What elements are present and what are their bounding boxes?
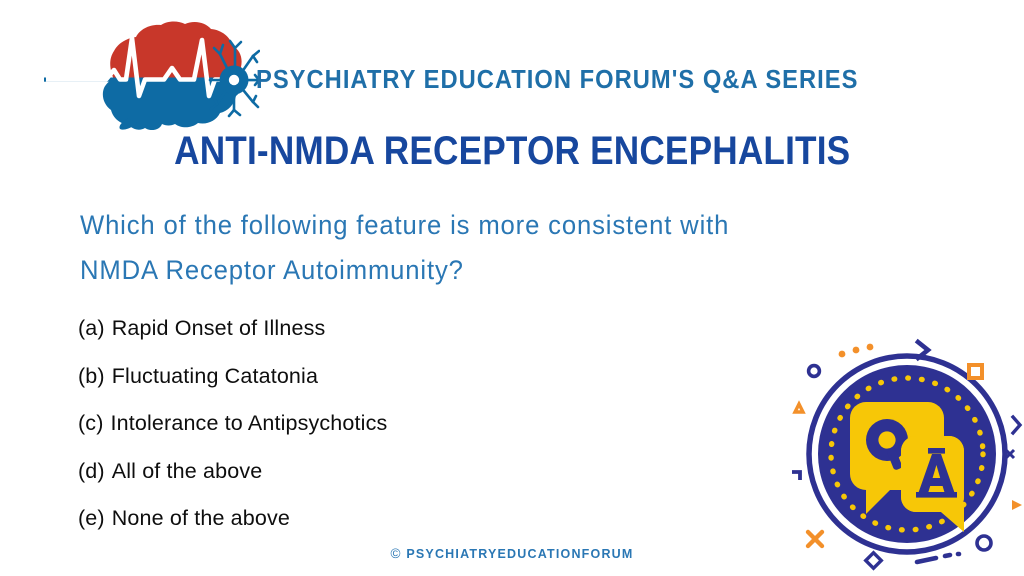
orange-square-outline-icon: [969, 365, 982, 378]
slide-header: PSYCHIATRY EDUCATION FORUM'S Q&A SERIES: [0, 8, 1024, 134]
orange-triangle-icon: [795, 404, 803, 412]
orange-dots-icon: [839, 344, 874, 358]
option-d-label: All of the above: [112, 459, 263, 483]
option-a-tag: (a): [78, 316, 105, 340]
slide-canvas: PSYCHIATRY EDUCATION FORUM'S Q&A SERIES …: [0, 0, 1024, 576]
option-c[interactable]: (c)Intolerance to Antipsychotics: [78, 400, 718, 448]
option-b[interactable]: (b)Fluctuating Catatonia: [78, 353, 718, 401]
option-a[interactable]: (a)Rapid Onset of Illness: [78, 305, 718, 353]
page-title-text: ANTI-NMDA RECEPTOR ENCEPHALITIS: [174, 129, 850, 173]
blue-caret-right-icon: [1013, 417, 1020, 433]
blue-circle-outline-icon: [809, 366, 820, 377]
orange-x-icon: [808, 532, 822, 546]
orange-triangle-right-icon: [1012, 500, 1022, 510]
blue-caret-icon: [792, 472, 800, 480]
option-d-tag: (d): [78, 459, 105, 483]
header-title: PSYCHIATRY EDUCATION FORUM'S Q&A SERIES: [256, 60, 907, 100]
question-text: Which of the following feature is more c…: [80, 203, 950, 293]
qa-speech-bubbles-badge-icon: [784, 332, 1024, 576]
brain-ecg-neuron-logo-icon: [44, 18, 260, 130]
option-a-label: Rapid Onset of Illness: [112, 316, 326, 340]
option-b-label: Fluctuating Catatonia: [112, 364, 318, 388]
option-e[interactable]: (e)None of the above: [78, 495, 718, 543]
footer-text: PSYCHIATRYEDUCATIONFORUM: [406, 547, 633, 561]
copyright-icon: ©: [390, 546, 401, 561]
question-line-1: Which of the following feature is more c…: [80, 203, 907, 248]
option-c-label: Intolerance to Antipsychotics: [111, 411, 388, 435]
option-d[interactable]: (d)All of the above: [78, 448, 718, 496]
page-title: ANTI-NMDA RECEPTOR ENCEPHALITIS: [0, 129, 1024, 173]
option-e-tag: (e): [78, 506, 105, 530]
option-e-label: None of the above: [112, 506, 290, 530]
option-b-tag: (b): [78, 364, 105, 388]
answer-options-list: (a)Rapid Onset of Illness (b)Fluctuating…: [78, 305, 718, 543]
option-c-tag: (c): [78, 411, 104, 435]
footer-copyright: © PSYCHIATRYEDUCATIONFORUM: [0, 546, 1024, 561]
question-line-2: NMDA Receptor Autoimmunity?: [80, 248, 907, 293]
